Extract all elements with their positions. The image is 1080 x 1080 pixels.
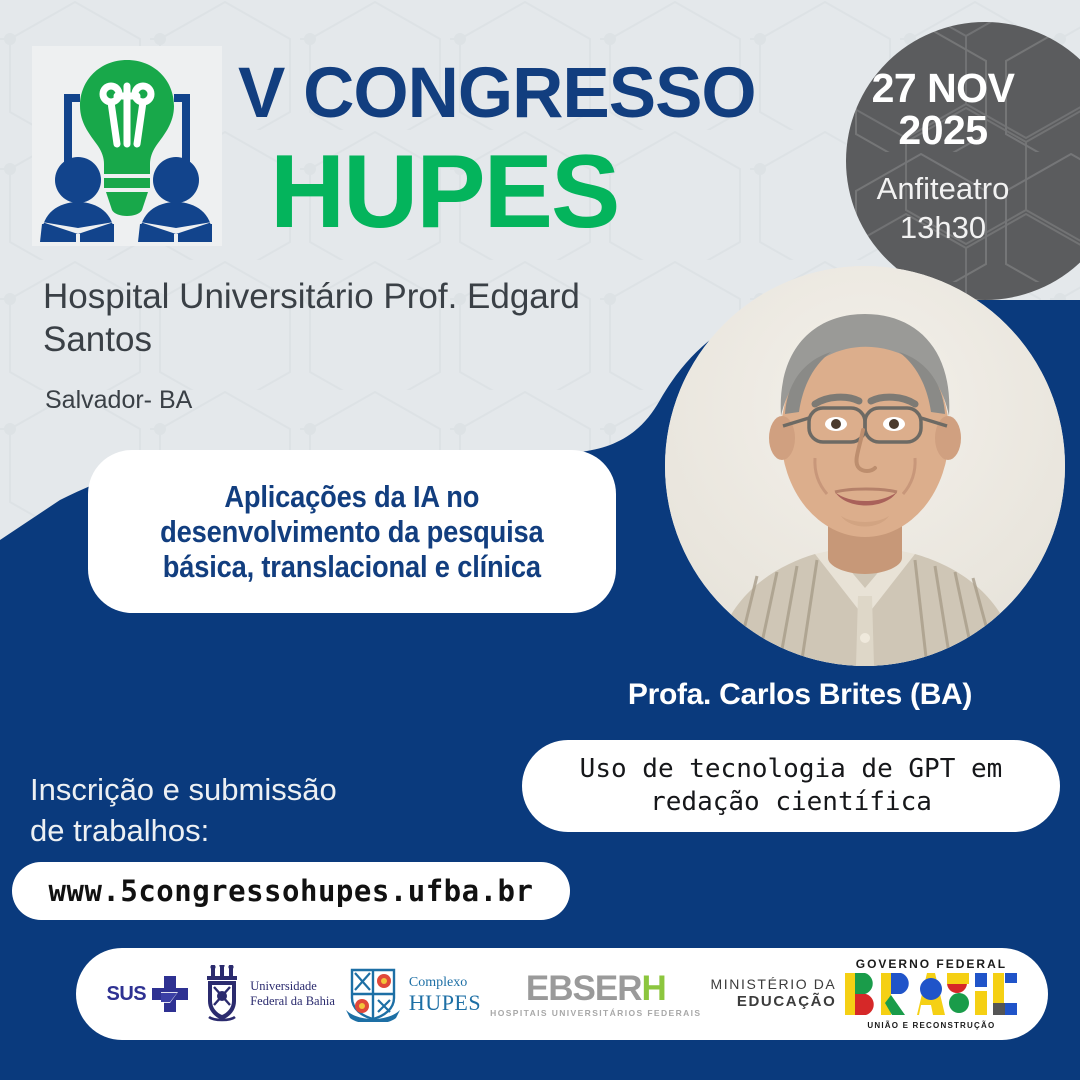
logo-ministerio-educacao: MINISTÉRIO DA EDUCAÇÃO xyxy=(711,976,837,1012)
date-text: 27 NOV 2025 xyxy=(846,68,1040,152)
gov-tagline: UNIÃO E RECONSTRUÇÃO xyxy=(845,1022,1017,1030)
talk-2-line-1: Uso de tecnologia de GPT em xyxy=(580,754,1003,784)
logo-complexo-hupes: Complexo HUPES xyxy=(344,966,481,1022)
ebserh-main-text: EBSER xyxy=(526,969,642,1008)
talk-2-card: Uso de tecnologia de GPT em redação cien… xyxy=(522,740,1060,832)
talk-1-line-1: Aplicações da IA no xyxy=(225,479,480,514)
event-poster: V CONGRESSO HUPES Hospital Universitário… xyxy=(0,0,1080,1080)
city-label: Salvador- BA xyxy=(45,386,192,415)
logo-sus: SUS xyxy=(107,972,193,1016)
ufba-line-1: Universidade xyxy=(250,979,317,993)
registration-url-pill[interactable]: www.5congressohupes.ufba.br xyxy=(12,862,570,920)
ebserh-tagline: HOSPITAIS UNIVERSITÁRIOS FEDERAIS xyxy=(490,1009,701,1018)
mec-line-1: MINISTÉRIO DA xyxy=(711,976,837,994)
registration-label: Inscrição e submissão de trabalhos: xyxy=(30,770,460,852)
ebserh-h-letter: H xyxy=(641,969,665,1008)
date-line-2: 2025 xyxy=(898,107,987,153)
sus-cross-icon xyxy=(148,972,192,1016)
ufba-line-2: Federal da Bahia xyxy=(250,994,335,1008)
registration-line-1: Inscrição e submissão xyxy=(30,772,337,807)
registration-url[interactable]: www.5congressohupes.ufba.br xyxy=(49,874,534,908)
brasil-wordmark-icon xyxy=(845,973,1017,1015)
logo-ufba: Universidade Federal da Bahia xyxy=(201,965,335,1023)
complexo-hupes-label: Complexo HUPES xyxy=(409,974,481,1015)
speaker-photo xyxy=(665,266,1065,666)
date-badge: 27 NOV 2025 Anfiteatro 13h30 xyxy=(846,22,1080,300)
page-title-hupes: HUPES xyxy=(270,140,618,244)
talk-2-line-2: redação científica xyxy=(650,787,932,817)
logo-ebserh: EBSERH HOSPITAIS UNIVERSITÁRIOS FEDERAIS xyxy=(490,971,701,1018)
page-title-congresso: V CONGRESSO xyxy=(238,58,756,129)
talk-2-title: Uso de tecnologia de GPT em redação cien… xyxy=(562,753,1021,820)
logo-governo-federal: GOVERNO FEDERAL xyxy=(845,958,1017,1030)
talk-1-card: Aplicações da IA no desenvolvimento da p… xyxy=(88,450,616,613)
portrait-illustration xyxy=(665,266,1065,666)
venue-time-text: Anfiteatro 13h30 xyxy=(846,170,1040,248)
hexagon-pattern-icon xyxy=(846,22,1080,300)
registration-line-2: de trabalhos: xyxy=(30,813,209,848)
time-label: 13h30 xyxy=(900,210,986,245)
talk-1-title: Aplicações da IA no desenvolvimento da p… xyxy=(148,479,556,584)
talk-1-line-3: básica, translacional e clínica xyxy=(163,549,541,584)
sus-label: SUS xyxy=(107,983,147,1006)
lightbulb-people-icon xyxy=(38,52,216,242)
hupes-crest-icon xyxy=(344,966,402,1022)
ebserh-wordmark: EBSERH xyxy=(490,971,701,1006)
speaker-name: Profa. Carlos Brites (BA) xyxy=(560,678,1040,712)
hupes-line-1: Complexo xyxy=(409,975,467,990)
hupes-line-2: HUPES xyxy=(409,990,481,1015)
gov-federal-label: GOVERNO FEDERAL xyxy=(845,958,1017,970)
mec-line-2: EDUCAÇÃO xyxy=(711,993,837,1012)
ufba-label: Universidade Federal da Bahia xyxy=(250,979,335,1010)
sponsor-logo-bar: SUS xyxy=(76,948,1048,1040)
date-line-1: 27 NOV xyxy=(872,65,1015,111)
ufba-crest-icon xyxy=(201,965,243,1023)
hospital-name: Hospital Universitário Prof. Edgard Sant… xyxy=(43,276,663,361)
talk-1-line-2: desenvolvimento da pesquisa xyxy=(160,514,543,549)
venue-label: Anfiteatro xyxy=(877,171,1010,206)
